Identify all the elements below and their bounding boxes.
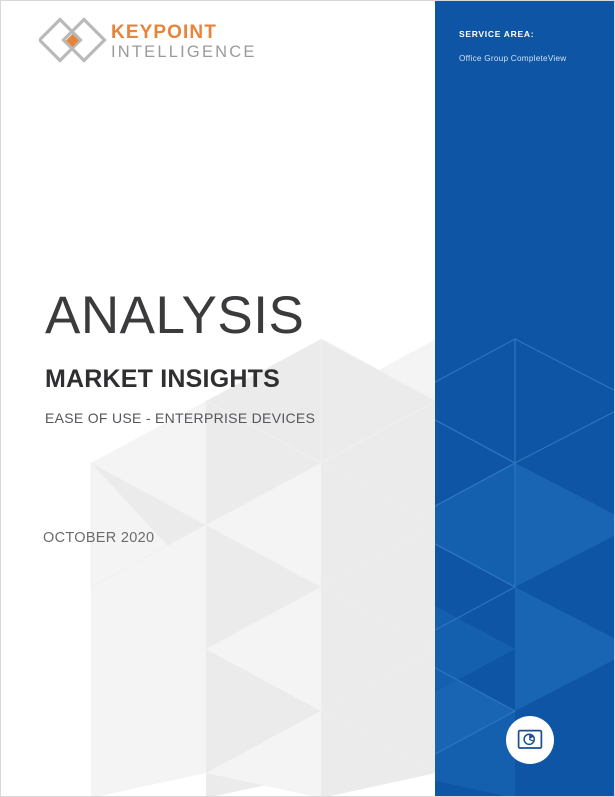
service-area-value: Office Group CompleteView — [459, 54, 609, 63]
double-diamond-logo-mark — [39, 15, 107, 69]
pie-chart-screen-icon — [517, 727, 543, 753]
brand-logo: KEYPOINT INTELLIGENCE — [39, 15, 257, 69]
publication-date: OCTOBER 2020 — [43, 530, 154, 546]
blue-panel-triangle-pattern — [435, 1, 615, 797]
title-block: ANALYSIS MARKET INSIGHTS EASE OF USE - E… — [45, 289, 315, 425]
logo-word-intelligence: INTELLIGENCE — [111, 43, 257, 61]
page-title: MARKET INSIGHTS — [45, 367, 315, 392]
blue-side-panel — [435, 1, 615, 797]
service-area-block: SERVICE AREA: Office Group CompleteView — [459, 29, 609, 63]
report-badge — [506, 716, 554, 764]
document-type-heading: ANALYSIS — [45, 289, 315, 342]
service-area-label: SERVICE AREA: — [459, 29, 609, 39]
logo-wordmark: KEYPOINT INTELLIGENCE — [111, 23, 257, 62]
logo-word-keypoint: KEYPOINT — [111, 23, 257, 42]
document-cover-page: KEYPOINT INTELLIGENCE SERVICE AREA: Offi… — [0, 0, 615, 797]
page-subtitle: EASE OF USE - ENTERPRISE DEVICES — [45, 411, 315, 425]
